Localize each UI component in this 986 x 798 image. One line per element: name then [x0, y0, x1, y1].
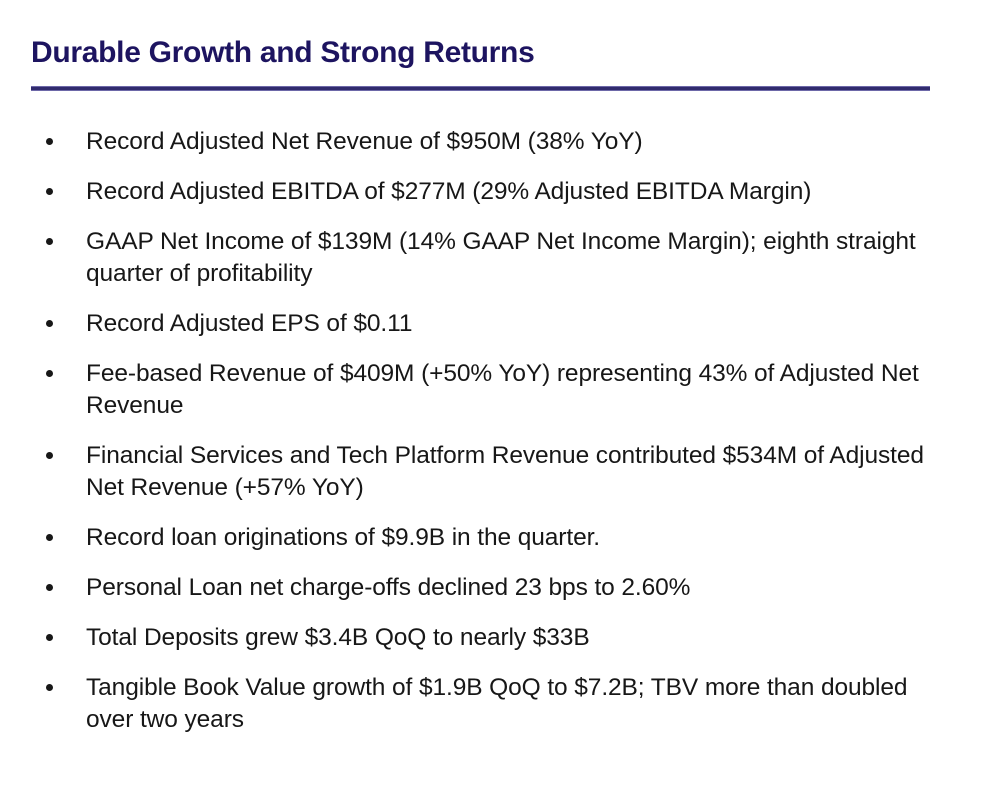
list-item: Record Adjusted Net Revenue of $950M (38… — [31, 126, 951, 158]
list-item-label: Fee-based Revenue of $409M (+50% YoY) re… — [86, 358, 951, 422]
bullet-dot-icon — [46, 320, 53, 327]
list-item-label: Personal Loan net charge-offs declined 2… — [86, 572, 951, 604]
list-item-label: Tangible Book Value growth of $1.9B QoQ … — [86, 672, 951, 736]
list-item: Record Adjusted EBITDA of $277M (29% Adj… — [31, 176, 951, 208]
bullet-dot-icon — [46, 138, 53, 145]
bullet-list: Record Adjusted Net Revenue of $950M (38… — [31, 126, 951, 754]
list-item-label: Record Adjusted Net Revenue of $950M (38… — [86, 126, 951, 158]
list-item: Total Deposits grew $3.4B QoQ to nearly … — [31, 622, 951, 654]
list-item-label: Record Adjusted EBITDA of $277M (29% Adj… — [86, 176, 951, 208]
bullet-dot-icon — [46, 188, 53, 195]
bullet-dot-icon — [46, 534, 53, 541]
bullet-dot-icon — [46, 370, 53, 377]
bullet-dot-icon — [46, 684, 53, 691]
bullet-dot-icon — [46, 452, 53, 459]
list-item-label: Record Adjusted EPS of $0.11 — [86, 308, 951, 340]
list-item: GAAP Net Income of $139M (14% GAAP Net I… — [31, 226, 951, 290]
list-item-label: GAAP Net Income of $139M (14% GAAP Net I… — [86, 226, 951, 290]
bullet-dot-icon — [46, 584, 53, 591]
list-item: Tangible Book Value growth of $1.9B QoQ … — [31, 672, 951, 736]
bullet-dot-icon — [46, 238, 53, 245]
title-divider — [31, 86, 930, 91]
list-item-label: Financial Services and Tech Platform Rev… — [86, 440, 951, 504]
list-item: Fee-based Revenue of $409M (+50% YoY) re… — [31, 358, 951, 422]
list-item-label: Total Deposits grew $3.4B QoQ to nearly … — [86, 622, 951, 654]
slide: Durable Growth and Strong Returns Record… — [0, 0, 986, 798]
list-item: Financial Services and Tech Platform Rev… — [31, 440, 951, 504]
page-title: Durable Growth and Strong Returns — [31, 36, 534, 70]
list-item: Record Adjusted EPS of $0.11 — [31, 308, 951, 340]
list-item-label: Record loan originations of $9.9B in the… — [86, 522, 951, 554]
list-item: Personal Loan net charge-offs declined 2… — [31, 572, 951, 604]
bullet-dot-icon — [46, 634, 53, 641]
list-item: Record loan originations of $9.9B in the… — [31, 522, 951, 554]
